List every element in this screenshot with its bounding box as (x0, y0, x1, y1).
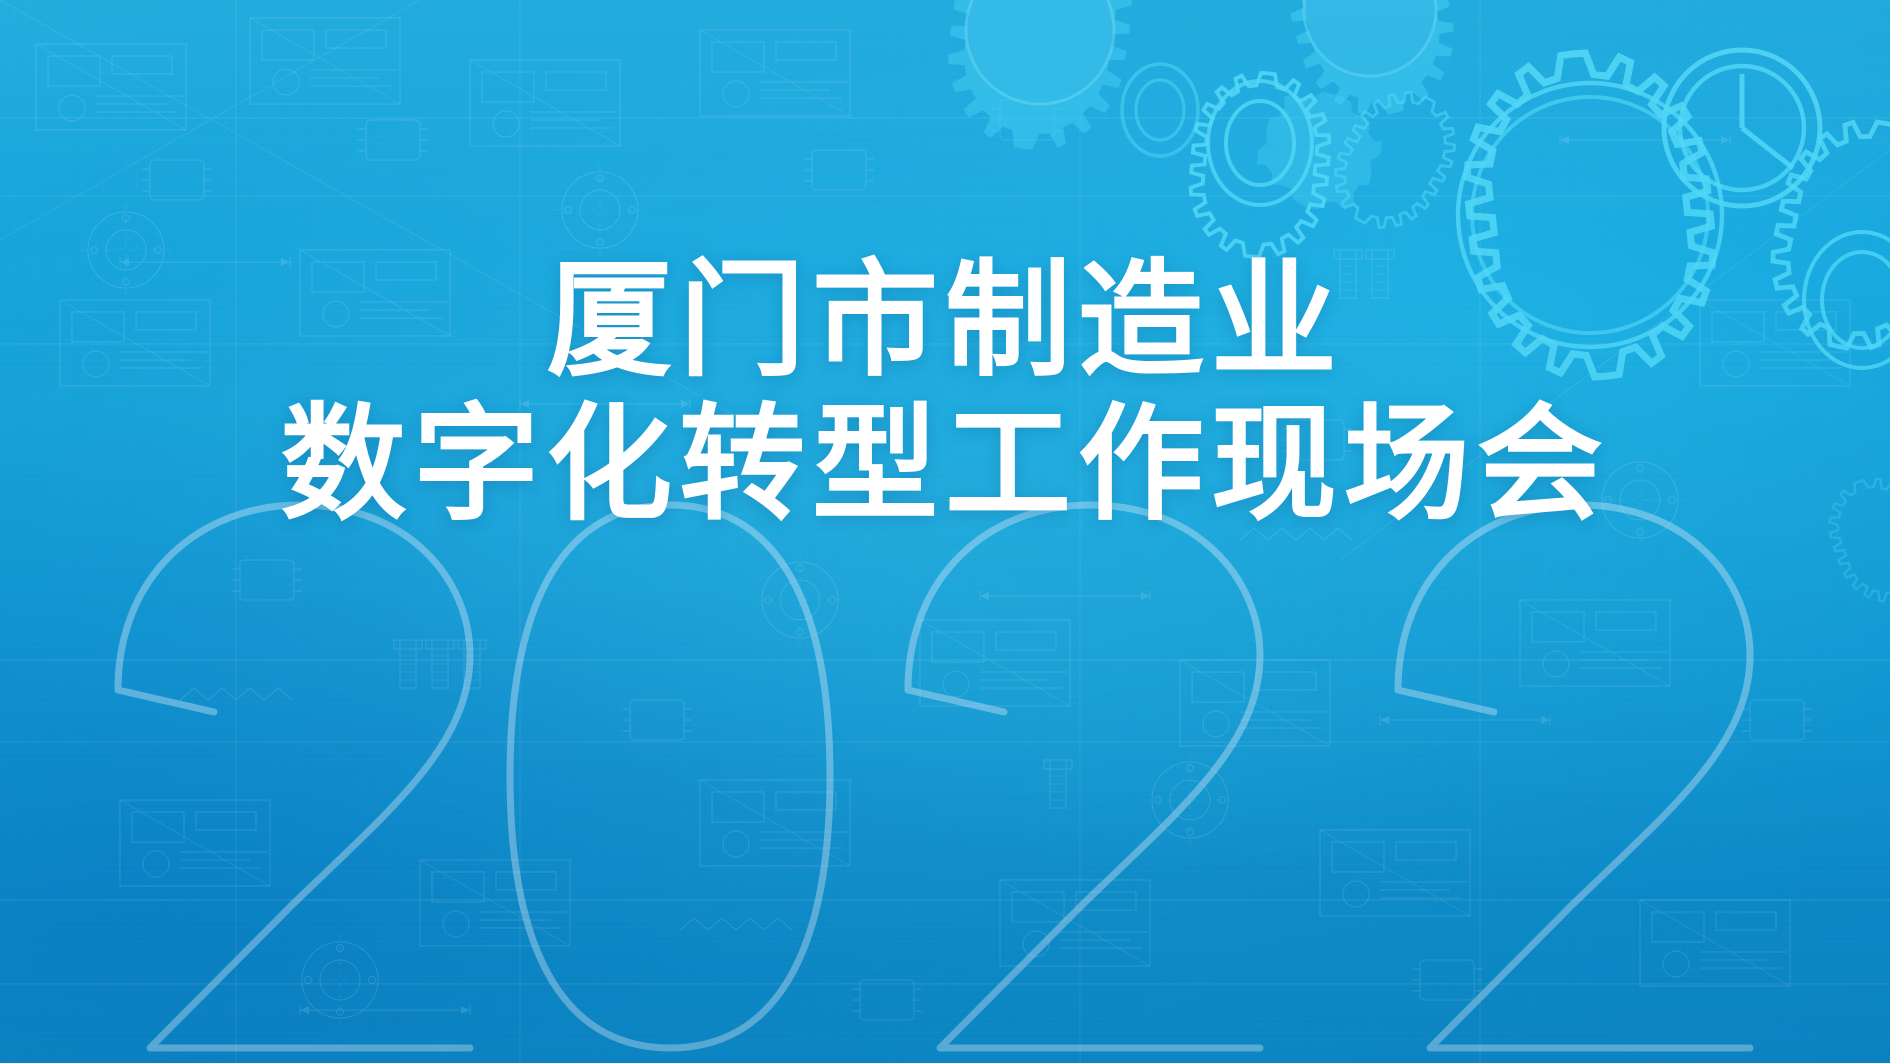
background-vignette (0, 0, 1890, 1063)
event-banner: 厦门市制造业 数字化转型工作现场会 (0, 0, 1890, 1063)
